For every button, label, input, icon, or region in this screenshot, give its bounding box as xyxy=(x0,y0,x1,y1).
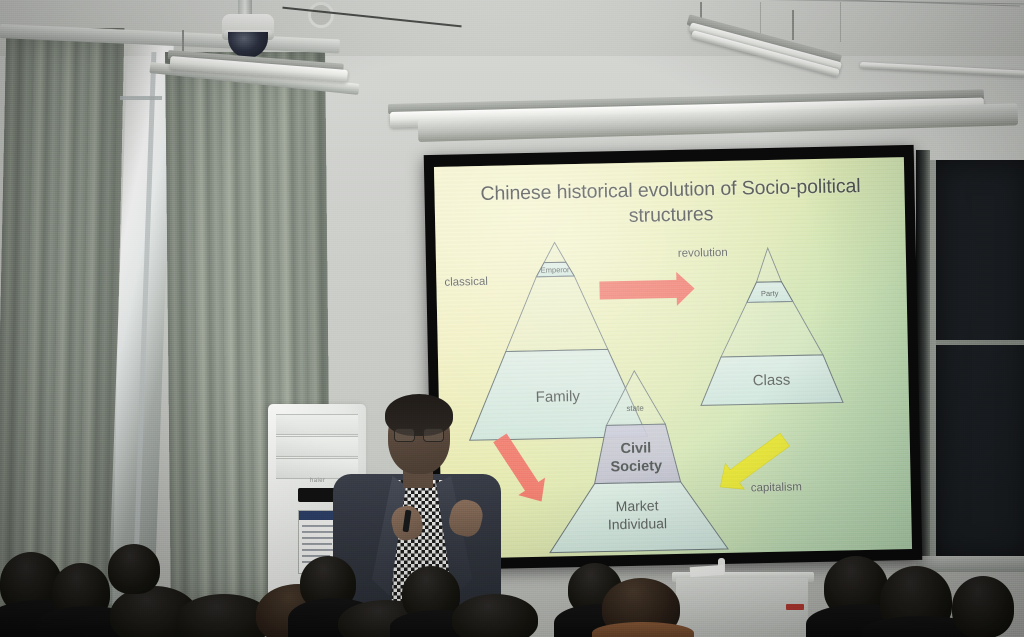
label-capitalism: capitalism xyxy=(751,481,802,494)
ceiling-panel-line xyxy=(840,2,841,42)
eyeglasses-icon xyxy=(394,428,444,441)
svg-text:Class: Class xyxy=(753,372,791,390)
label-revolution: revolution xyxy=(678,247,728,260)
ac-vent xyxy=(276,436,358,457)
ac-display-panel xyxy=(298,488,336,502)
lens-right xyxy=(423,428,444,442)
svg-text:Market: Market xyxy=(616,497,659,514)
light-stem xyxy=(792,10,794,40)
sticker-line xyxy=(302,543,332,545)
svg-text:Society: Society xyxy=(610,458,662,475)
svg-text:state: state xyxy=(626,404,644,413)
audience-head xyxy=(952,576,1014,637)
lecture-hall-photo: Chinese historical evolution of Socio-po… xyxy=(0,0,1024,637)
window-right-panel xyxy=(930,160,1024,560)
audience-shoulder xyxy=(592,622,694,637)
sticker-line xyxy=(302,531,334,533)
ac-brand-label: haier xyxy=(310,478,325,484)
svg-text:Civil: Civil xyxy=(620,440,651,457)
diagram-svg: Emperor Family Party Class xyxy=(434,157,912,559)
svg-text:Individual: Individual xyxy=(608,515,667,532)
audience-head xyxy=(108,544,160,594)
pyramid-modern: Party Class xyxy=(698,246,843,405)
svg-text:Family: Family xyxy=(536,388,581,406)
audience-head xyxy=(452,594,538,637)
svg-text:Party: Party xyxy=(761,289,779,298)
lectern-label xyxy=(786,604,804,610)
sticker-line xyxy=(302,549,337,551)
label-classical: classical xyxy=(444,276,488,289)
slide-surface: Chinese historical evolution of Socio-po… xyxy=(434,157,912,559)
curtain-left xyxy=(0,28,124,637)
glasses-bridge xyxy=(414,433,423,435)
light-stem xyxy=(700,2,702,18)
revolution-arrow xyxy=(599,272,695,308)
ceiling-speaker-icon xyxy=(308,2,334,28)
light-stem xyxy=(182,30,184,52)
window-mullion xyxy=(936,340,1024,345)
pyramid-diagram: Emperor Family Party Class xyxy=(434,157,912,559)
lens-left xyxy=(394,428,415,442)
window-frame-horizontal xyxy=(120,96,162,100)
ac-vent xyxy=(276,414,358,435)
svg-text:Emperor: Emperor xyxy=(541,265,570,275)
